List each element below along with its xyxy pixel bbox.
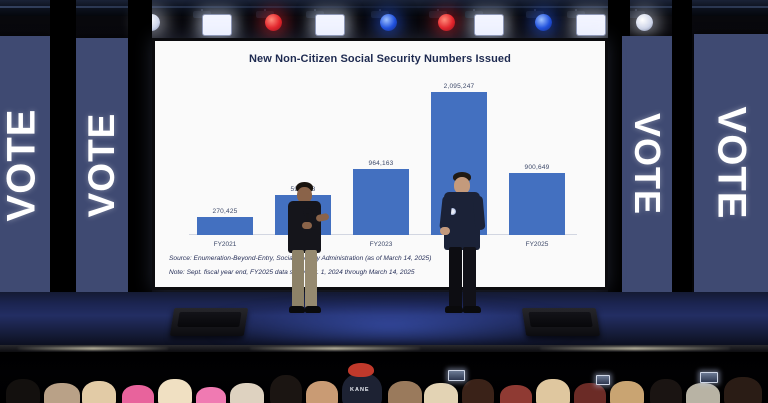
stage-floor-light-pool bbox=[210, 300, 570, 344]
audience-member bbox=[82, 381, 116, 403]
audience-member bbox=[196, 387, 226, 403]
hand-left bbox=[302, 222, 312, 229]
vote-banner-left-1: VOTE bbox=[0, 36, 50, 294]
bar-value-label: 964,163 bbox=[353, 160, 409, 167]
audience-member bbox=[574, 383, 606, 403]
phone-screen bbox=[448, 370, 465, 381]
vote-banner-text: VOTE bbox=[626, 113, 668, 215]
phone-screen bbox=[700, 372, 718, 383]
audience-member bbox=[270, 375, 302, 403]
rally-stage-scene: VOTE VOTE VOTE VOTE New Non-Citizen Soci… bbox=[0, 0, 768, 403]
stage-edge-light bbox=[250, 347, 420, 350]
audience-member bbox=[158, 379, 192, 403]
hand-right bbox=[315, 213, 329, 223]
audience-member bbox=[610, 381, 644, 403]
lighting-truss bbox=[0, 0, 768, 16]
stage-monitor-speaker bbox=[170, 308, 248, 336]
vote-banner-right-1: VOTE bbox=[622, 36, 672, 292]
audience-member bbox=[122, 385, 154, 403]
hand-left bbox=[440, 227, 450, 235]
shoe-right bbox=[305, 306, 321, 313]
red-cap bbox=[348, 363, 374, 377]
leg-right bbox=[463, 247, 476, 309]
speaker-left bbox=[276, 182, 332, 322]
stage-edge-light bbox=[18, 347, 168, 350]
audience-member bbox=[650, 379, 682, 403]
presentation-slide: New Non-Citizen Social Security Numbers … bbox=[155, 41, 605, 287]
audience-member bbox=[44, 383, 80, 403]
shoe-left bbox=[445, 306, 463, 313]
chart-category-axis: FY2021 FY2022 FY2023 FY2024 FY2025 bbox=[189, 237, 577, 251]
category-label: FY2025 bbox=[509, 241, 565, 248]
bar bbox=[509, 173, 565, 235]
bar-chart: 270,425 590,193 964,163 2,095,247 900,64… bbox=[189, 85, 577, 235]
audience-member bbox=[724, 377, 762, 403]
audience-member bbox=[388, 381, 422, 403]
shoe-left bbox=[289, 306, 305, 313]
wall-pillar bbox=[672, 0, 692, 330]
vote-banner-text: VOTE bbox=[81, 113, 123, 218]
vote-banner-right-2: VOTE bbox=[694, 34, 768, 292]
arm-right bbox=[473, 196, 486, 231]
vote-banner-text: VOTE bbox=[709, 107, 754, 220]
stage-monitor-speaker bbox=[522, 308, 600, 336]
category-label: FY2021 bbox=[197, 241, 253, 248]
leg-left bbox=[292, 250, 304, 308]
audience-row: KANE bbox=[0, 352, 768, 403]
bar-value-label: 900,649 bbox=[509, 164, 565, 171]
vote-banner-left-2: VOTE bbox=[76, 38, 128, 292]
vote-banner-text: VOTE bbox=[0, 109, 45, 222]
audience-member bbox=[686, 383, 720, 403]
bar-value-label: 270,425 bbox=[197, 208, 253, 215]
stage-edge-light bbox=[540, 347, 730, 350]
audience-member bbox=[536, 379, 570, 403]
slide-title: New Non-Citizen Social Security Numbers … bbox=[155, 53, 605, 65]
speaker-right bbox=[436, 172, 492, 322]
audience-member bbox=[462, 379, 494, 403]
wall-pillar bbox=[128, 0, 152, 330]
audience-member bbox=[424, 383, 458, 403]
audience-member bbox=[500, 385, 532, 403]
category-label: FY2023 bbox=[353, 241, 409, 248]
phone-screen bbox=[596, 375, 610, 385]
leg-right bbox=[305, 250, 317, 308]
audience-member bbox=[230, 383, 264, 403]
wall-pillar bbox=[50, 0, 76, 330]
audience-member bbox=[306, 381, 338, 403]
leg-left bbox=[449, 247, 462, 309]
microphone bbox=[306, 213, 309, 222]
bar bbox=[197, 217, 253, 235]
bar bbox=[353, 169, 409, 235]
jacket-text: KANE bbox=[350, 387, 370, 393]
bar-value-label: 2,095,247 bbox=[431, 83, 487, 90]
audience-member bbox=[6, 379, 40, 403]
shoe-right bbox=[463, 306, 481, 313]
